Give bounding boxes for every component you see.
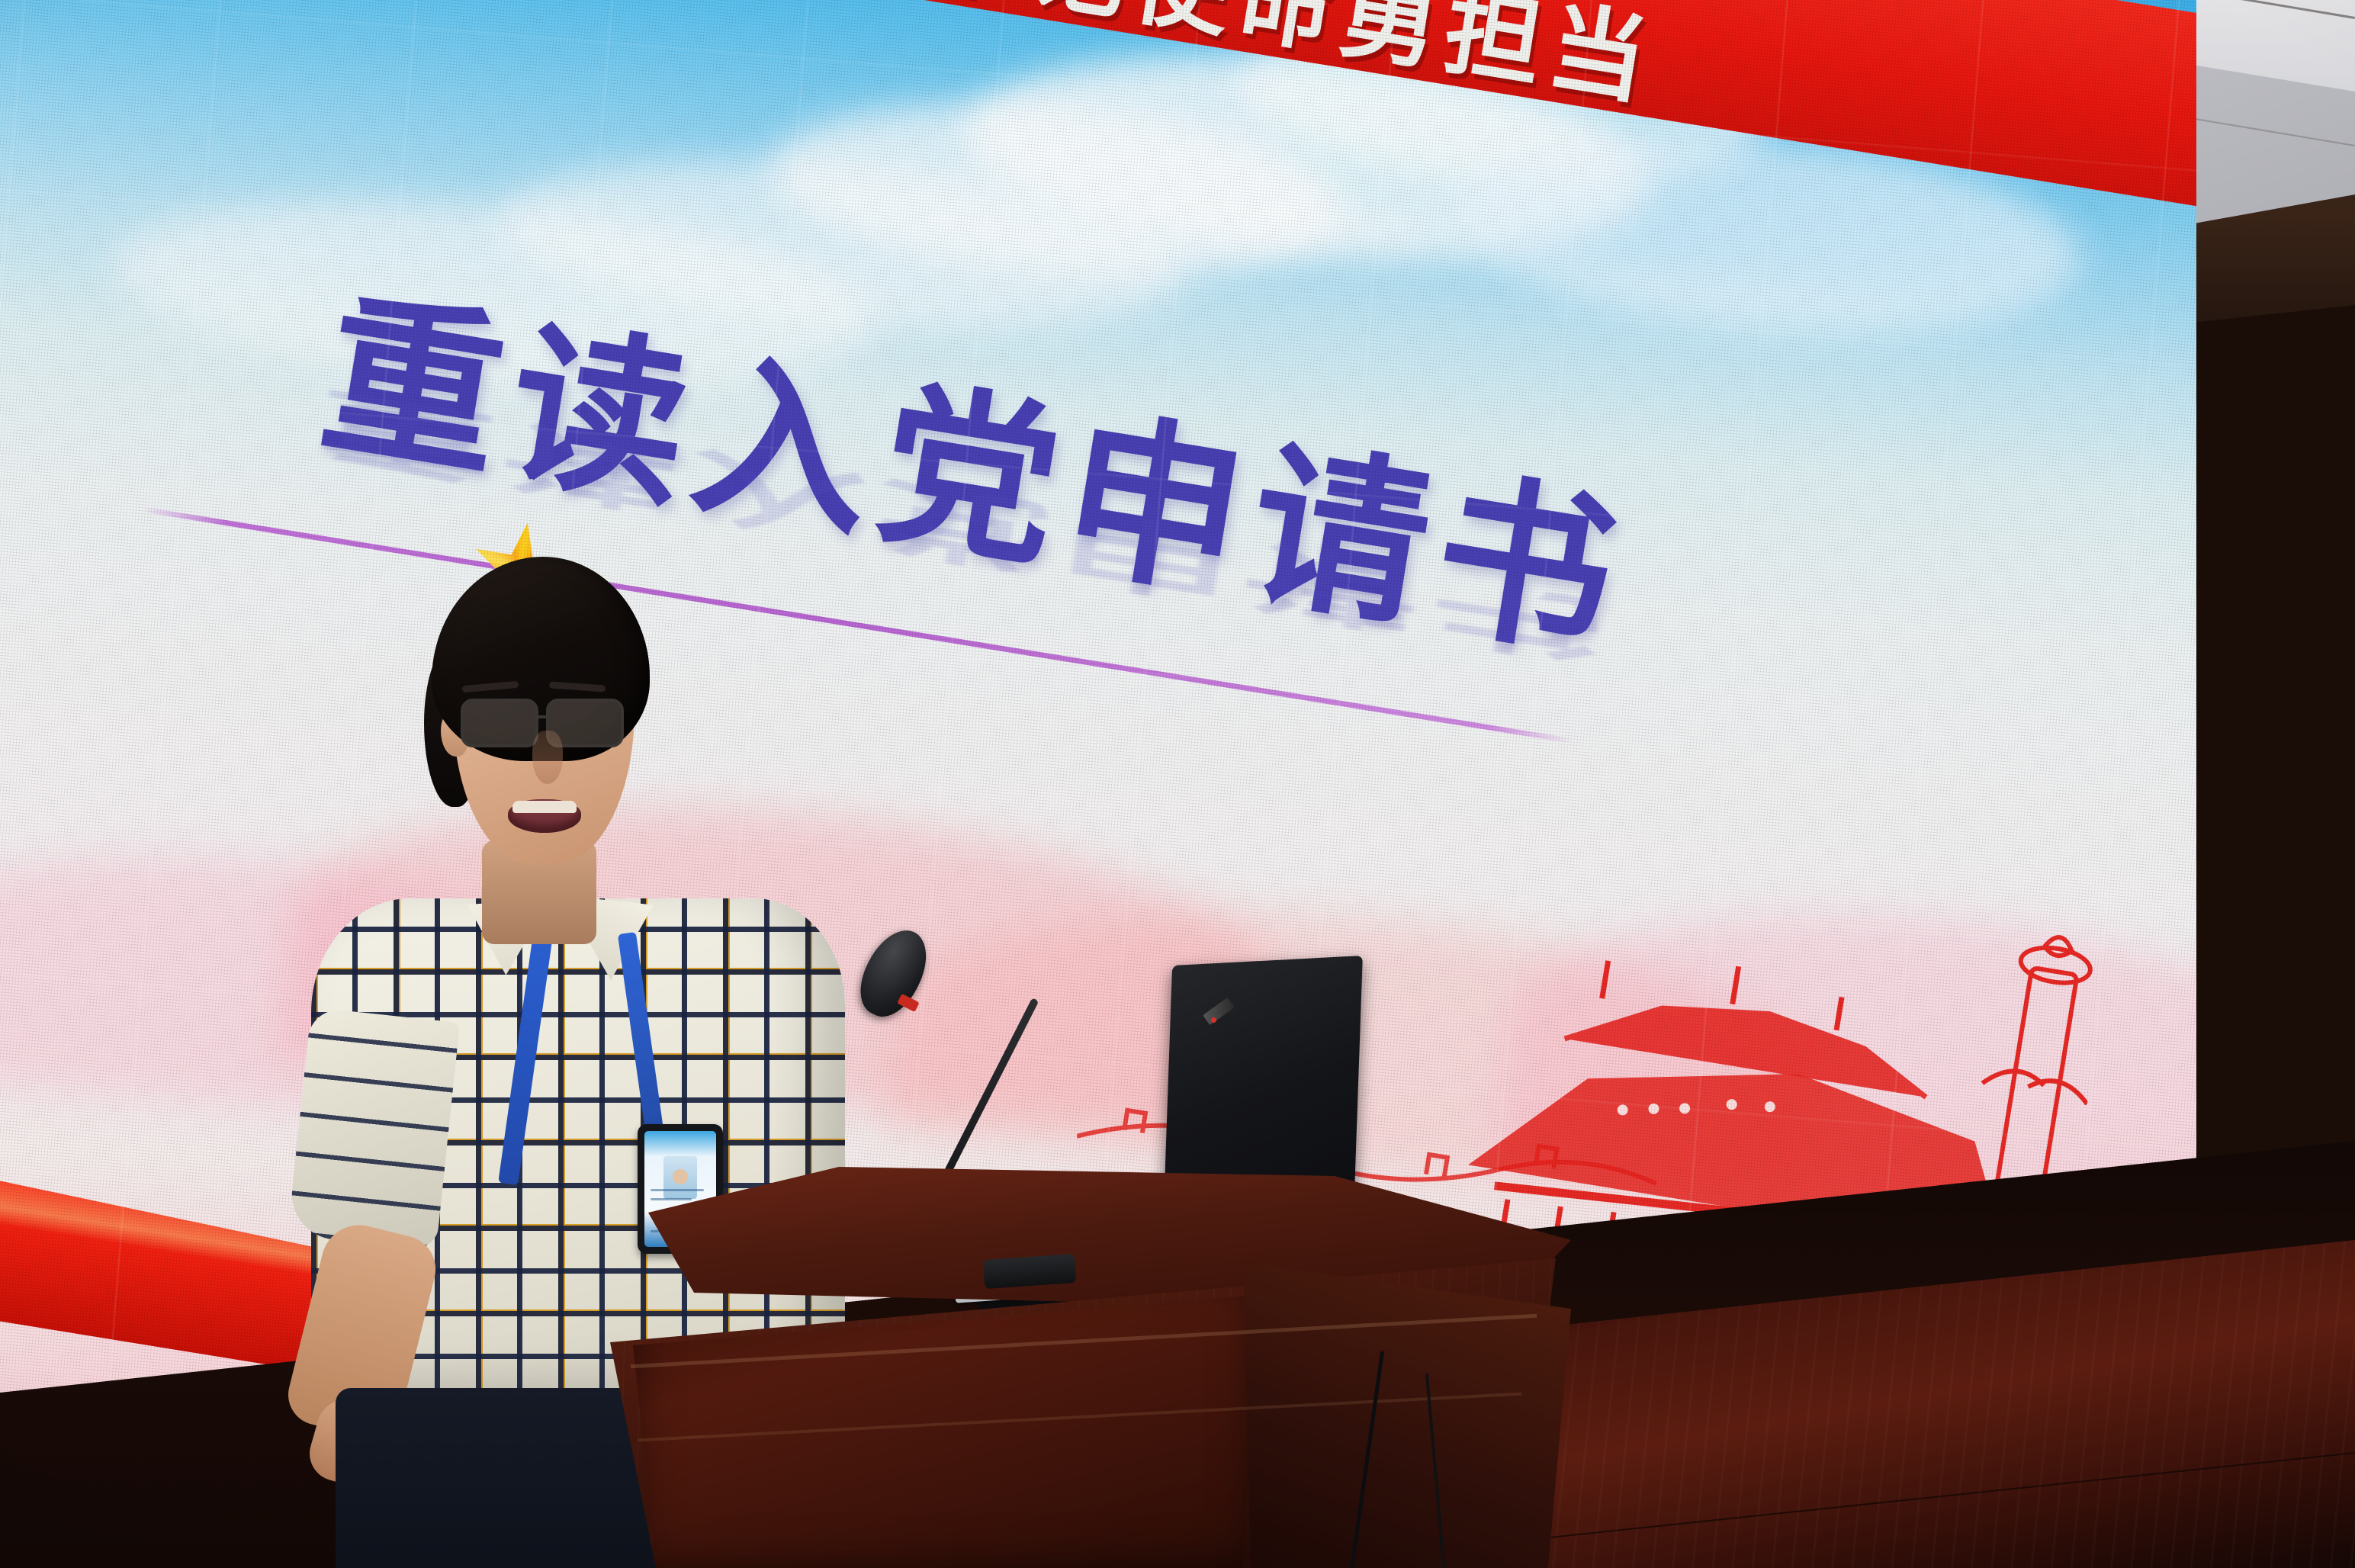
speaker-nose [532,731,563,784]
id-badge-text-line [651,1189,704,1191]
thinkpad-indicator-dot [1211,1017,1216,1023]
id-badge-text-line [651,1198,692,1200]
presentation-photo-scene: …初心 牢记使命勇担当 重读入党申请书 重读入党申请书 [0,0,2355,1568]
id-badge-photo [663,1156,697,1199]
speaker-teeth [512,801,577,813]
glasses-lens-left [461,699,538,747]
glasses-bridge [532,715,549,718]
speaker-left-arm [288,1007,460,1251]
